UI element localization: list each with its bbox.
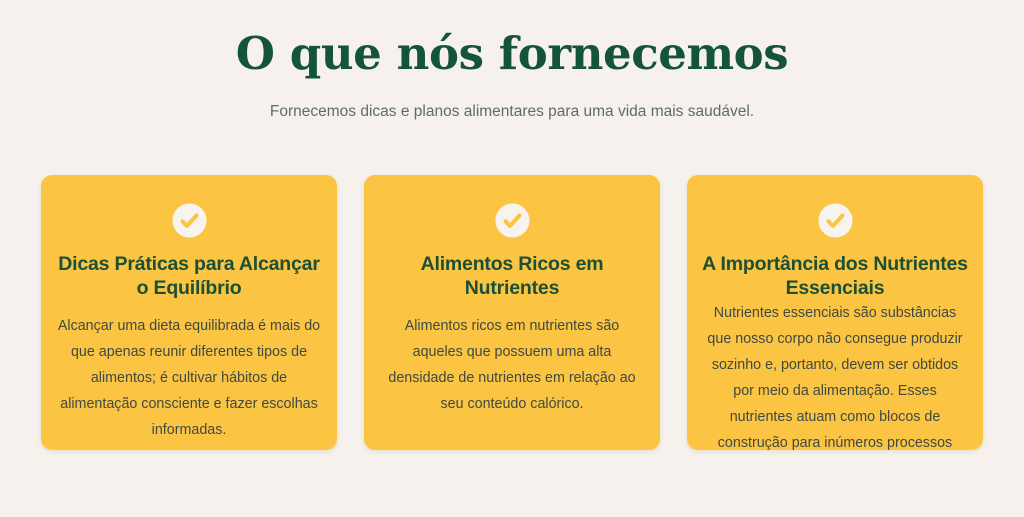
features-section: O que nós fornecemos Fornecemos dicas e …	[0, 0, 1024, 517]
card-icon-wrap	[701, 201, 969, 239]
card-body: Alcançar uma dieta equilibrada é mais do…	[55, 313, 323, 443]
feature-card[interactable]: Dicas Práticas para Alcançar o Equilíbri…	[41, 175, 337, 450]
feature-card[interactable]: A Importância dos Nutrientes Essenciais …	[687, 175, 983, 450]
card-icon-wrap	[55, 201, 323, 239]
card-title: A Importância dos Nutrientes Essenciais	[701, 253, 969, 301]
card-body: Alimentos ricos em nutrientes são aquele…	[378, 313, 646, 417]
check-circle-icon	[817, 202, 854, 239]
page-title: O que nós fornecemos	[0, 0, 1024, 80]
card-title: Dicas Práticas para Alcançar o Equilíbri…	[55, 253, 323, 301]
section-subtitle: Fornecemos dicas e planos alimentares pa…	[0, 80, 1024, 123]
card-title: Alimentos Ricos em Nutrientes	[378, 253, 646, 301]
feature-cards-row: Dicas Práticas para Alcançar o Equilíbri…	[41, 175, 983, 450]
feature-card[interactable]: Alimentos Ricos em Nutrientes Alimentos …	[364, 175, 660, 450]
card-body: Nutrientes essenciais são substâncias qu…	[701, 300, 969, 450]
check-circle-icon	[494, 202, 531, 239]
card-icon-wrap	[378, 201, 646, 239]
section-header: O que nós fornecemos Fornecemos dicas e …	[0, 0, 1024, 122]
check-circle-icon	[171, 202, 208, 239]
